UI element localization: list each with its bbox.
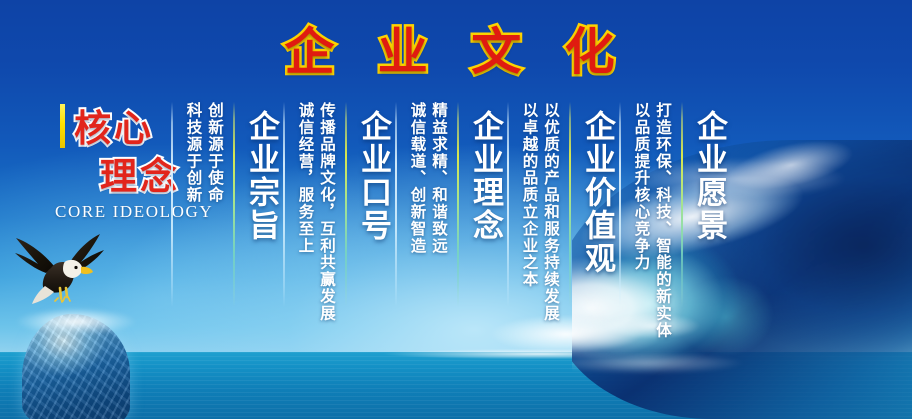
column-rule-pale bbox=[616, 102, 625, 307]
column-desc-line: 以品质提升核心竞争力 bbox=[633, 102, 649, 339]
column-desc-line: 创新源于使命 bbox=[207, 102, 223, 203]
column-heading: 企业理念 bbox=[469, 110, 500, 242]
core-ideology-accent-bar bbox=[60, 104, 65, 148]
culture-column: 企业价值观 以优质的产品和服务持续发展 以卓越的品质立企业之本 bbox=[504, 86, 616, 321]
column-rule-pale bbox=[280, 102, 289, 307]
culture-column: 企业愿景 打造环保、科技、智能的新实体 以品质提升核心竞争力 bbox=[616, 86, 728, 321]
column-heading: 企业价值观 bbox=[581, 110, 612, 275]
column-rule-accent bbox=[342, 102, 351, 307]
column-description: 创新源于使命 科技源于创新 bbox=[182, 86, 225, 203]
column-rule-accent bbox=[230, 102, 239, 307]
column-rule-accent bbox=[566, 102, 575, 307]
column-heading: 企业愿景 bbox=[693, 110, 724, 242]
column-rule-accent bbox=[454, 102, 463, 307]
column-heading: 企业宗旨 bbox=[245, 110, 276, 242]
column-desc-line: 诚信载道、创新智造 bbox=[409, 102, 425, 254]
column-desc-line: 传播品牌文化，互利共赢发展 bbox=[319, 102, 335, 322]
column-description: 打造环保、科技、智能的新实体 以品质提升核心竞争力 bbox=[630, 86, 673, 339]
column-heading: 企业口号 bbox=[357, 110, 388, 242]
eagle-icon bbox=[8, 228, 120, 312]
poster-canvas: 企 业 文 化 核心 理念 CORE IDEOLOGY 企业愿景 打造环保、科技… bbox=[0, 0, 912, 419]
column-desc-line: 科技源于创新 bbox=[185, 102, 201, 203]
rock-illustration bbox=[0, 300, 160, 419]
culture-column: 企业理念 精益求精、和谐致远 诚信载道、创新智造 bbox=[392, 86, 504, 321]
column-rule-pale bbox=[168, 102, 177, 307]
column-desc-line: 精益求精、和谐致远 bbox=[431, 102, 447, 254]
column-desc-line: 打造环保、科技、智能的新实体 bbox=[655, 102, 671, 339]
column-desc-line: 诚信经营，服务至上 bbox=[297, 102, 313, 322]
column-description: 以优质的产品和服务持续发展 以卓越的品质立企业之本 bbox=[518, 86, 561, 322]
column-description: 传播品牌文化，互利共赢发展 诚信经营，服务至上 bbox=[294, 86, 337, 322]
poster-title: 企 业 文 化 bbox=[0, 26, 912, 79]
column-description: 精益求精、和谐致远 诚信载道、创新智造 bbox=[406, 86, 449, 254]
culture-columns: 企业愿景 打造环保、科技、智能的新实体 以品质提升核心竞争力 企业价值观 以优质… bbox=[168, 86, 728, 321]
column-rule-pale bbox=[504, 102, 513, 307]
column-desc-line: 以卓越的品质立企业之本 bbox=[521, 102, 537, 322]
culture-column: 企业口号 传播品牌文化，互利共赢发展 诚信经营，服务至上 bbox=[280, 86, 392, 321]
column-rule-accent bbox=[678, 102, 687, 307]
core-ideology-line1: 核心 bbox=[74, 98, 154, 152]
culture-column: 企业宗旨 创新源于使命 科技源于创新 bbox=[168, 86, 280, 321]
column-desc-line: 以优质的产品和服务持续发展 bbox=[543, 102, 559, 322]
column-rule-pale bbox=[392, 102, 401, 307]
